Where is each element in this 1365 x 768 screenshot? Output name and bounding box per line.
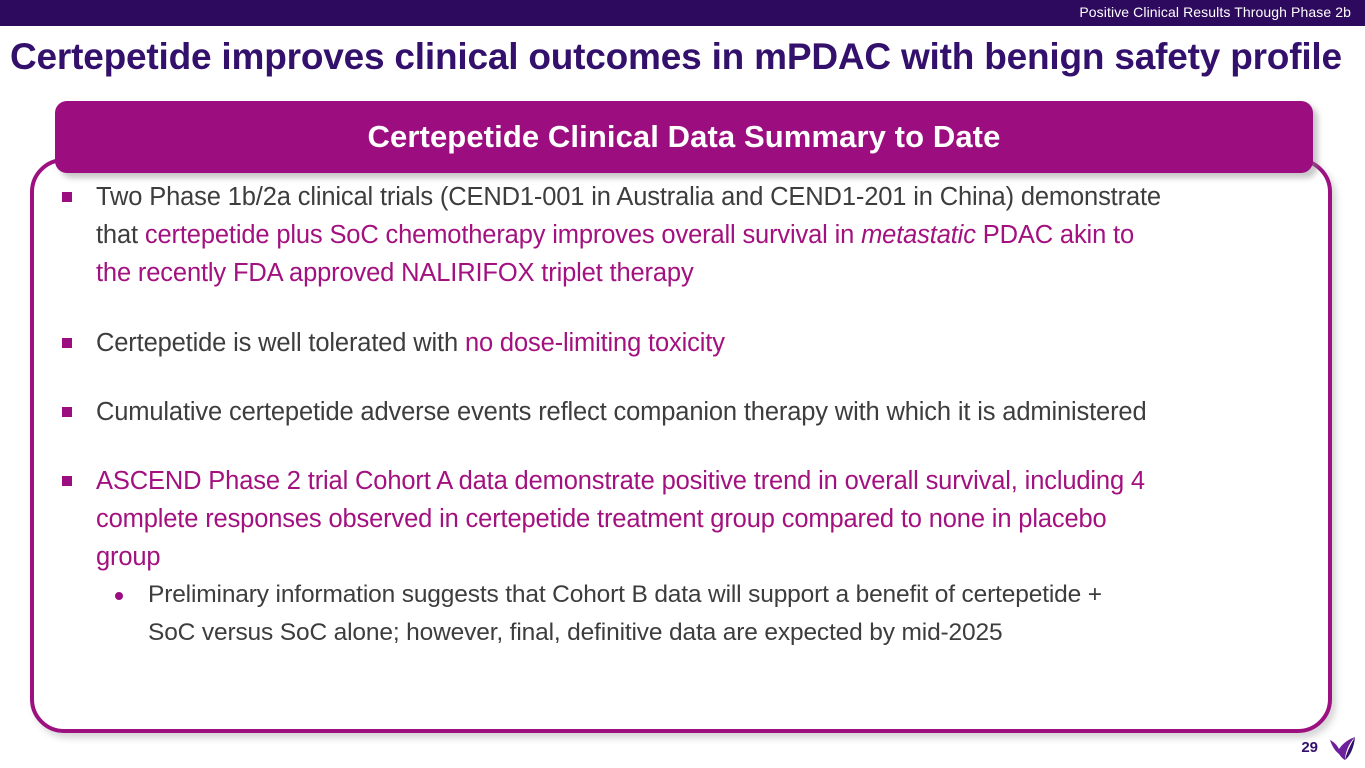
list-item: Two Phase 1b/2a clinical trials (CEND1-0… [30,178,1340,292]
page-title: Certepetide improves clinical outcomes i… [10,36,1360,78]
bullet-4-line-1: ASCEND Phase 2 trial Cohort A data demon… [96,462,1340,500]
bullet-1-line-2-plain: that [96,221,145,249]
bullet-4-line-3: group [96,538,1340,576]
bullet-1-line-2-highlight-b: PDAC akin to [976,221,1134,249]
bullet-spacer [30,431,1340,462]
dot-bullet-icon [115,592,123,600]
bullet-1-line-2-italic: metastatic [861,221,976,249]
section-banner: Certepetide Clinical Data Summary to Dat… [55,101,1313,173]
bullet-4-line-2: complete responses observed in certepeti… [96,500,1340,538]
header-label: Positive Clinical Results Through Phase … [1079,4,1351,20]
bullet-1-line-3: the recently FDA approved NALIRIFOX trip… [96,254,1340,292]
list-item: Certepetide is well tolerated with no do… [30,324,1340,362]
bullet-2-highlight: no dose-limiting toxicity [465,329,725,357]
leaf-logo-icon [1325,734,1357,762]
bullet-1-line-2-highlight-a: certepetide plus SoC chemotherapy improv… [145,221,861,249]
bullet-list: Two Phase 1b/2a clinical trials (CEND1-0… [30,178,1340,723]
bullet-spacer [30,362,1340,393]
top-header-bar: Positive Clinical Results Through Phase … [0,0,1365,26]
list-item: ASCEND Phase 2 trial Cohort A data demon… [30,462,1340,576]
sub-list-item: Preliminary information suggests that Co… [30,576,1340,652]
square-bullet-icon [62,338,72,348]
square-bullet-icon [62,476,72,486]
bullet-1-line-1: Two Phase 1b/2a clinical trials (CEND1-0… [96,178,1340,216]
bullet-3-line-1: Cumulative certepetide adverse events re… [96,393,1340,431]
sub-bullet-line-2: SoC versus SoC alone; however, final, de… [148,614,1340,652]
square-bullet-icon [62,192,72,202]
bullet-1-line-2: that certepetide plus SoC chemotherapy i… [96,216,1340,254]
list-item: Cumulative certepetide adverse events re… [30,393,1340,431]
bullet-2-plain: Certepetide is well tolerated with [96,329,465,357]
square-bullet-icon [62,407,72,417]
bullet-2-line-1: Certepetide is well tolerated with no do… [96,324,1340,362]
bullet-spacer [30,292,1340,324]
page-number: 29 [1301,739,1318,756]
sub-bullet-line-1: Preliminary information suggests that Co… [148,576,1340,614]
section-banner-title: Certepetide Clinical Data Summary to Dat… [368,119,1001,155]
